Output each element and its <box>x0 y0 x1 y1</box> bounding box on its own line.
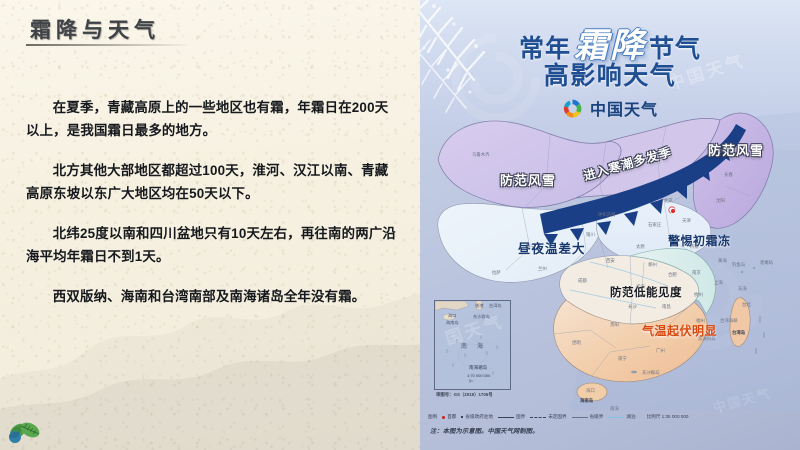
leaf-emblem-icon <box>4 404 46 444</box>
map-headline-line2: 高影响天气 <box>420 56 800 92</box>
paragraph-1: 在夏季，青藏高原上的一些地区也有霜，年霜日在200天以上，是我国霜日最多的地方。 <box>26 96 398 142</box>
inset-scale: 1:70 000 000 <box>467 373 490 378</box>
lake-swatch-icon <box>608 417 624 418</box>
city-label: 广州 <box>656 348 665 354</box>
legend-capital: 首都 <box>447 414 456 420</box>
city-label: 济南 <box>690 244 699 250</box>
sea-label: 渤海 <box>706 236 715 242</box>
map-note: 注：本图为示意图。中国天气网制图。 <box>430 426 539 435</box>
city-label: 南京 <box>692 270 701 276</box>
map-legend: 图例 首都 省级政府驻地 国界 未定国界 省级界 湖泊 比例尺 1:35 000… <box>428 414 792 420</box>
island-label: 台湾岛 <box>732 330 745 336</box>
legend-caption: 图例 <box>428 414 437 420</box>
title-underline <box>26 44 186 46</box>
sea-label: 南海 <box>610 406 619 412</box>
weather-map-image: 中国天气 国天气 中国天气 <box>420 0 800 450</box>
left-content-panel: 霜降与天气 在夏季，青藏高原上的一些地区也有霜，年霜日在200天以上，是我国霜日… <box>0 0 420 450</box>
annotation-first-frost-alert: 警惕初霜冻 <box>668 232 731 249</box>
brand-label: 中国天气 <box>590 96 658 120</box>
city-label: 呼和浩特 <box>598 212 616 218</box>
city-label: 杭州 <box>694 292 703 298</box>
legend-lake: 湖泊 <box>626 414 635 420</box>
island-label: 澎湖列岛 <box>698 336 716 342</box>
city-label: 海口 <box>586 388 595 394</box>
china-weather-logo-icon <box>562 98 583 119</box>
city-label: 贵阳 <box>610 322 619 328</box>
legend-undefined-border: 未定国界 <box>548 414 566 420</box>
legend-province-border: 省级界 <box>590 414 604 420</box>
city-label: 台北 <box>742 302 751 308</box>
legend-province-seat: 省级政府驻地 <box>465 414 493 420</box>
inset-label: 东沙群岛 <box>473 314 490 320</box>
province-seat-swatch-icon <box>461 416 463 418</box>
inset-sea-name: 南 海 <box>461 341 485 350</box>
sea-label: 台湾海峡 <box>720 318 738 324</box>
city-label: 沈阳 <box>716 198 725 204</box>
city-label: 上海 <box>714 280 723 286</box>
inset-label: 海南岛 <box>446 320 459 326</box>
capital-marker <box>671 209 675 213</box>
legend-scale: 比例尺 1:35 000 000 <box>647 414 689 420</box>
national-border-swatch-icon <box>498 417 514 418</box>
island-label: 赤尾屿 <box>760 260 773 266</box>
undefined-border-swatch-icon <box>530 417 546 418</box>
city-label: 昆明 <box>572 340 581 346</box>
city-label: 长沙 <box>628 304 637 310</box>
city-label: 哈尔滨 <box>718 148 731 154</box>
city-label: 南宁 <box>618 356 627 362</box>
city-label: 成都 <box>578 278 587 284</box>
city-label: 南昌 <box>662 304 671 310</box>
city-label: 福州 <box>696 318 705 324</box>
inset-label: 海口 <box>448 313 456 319</box>
city-label: 合肥 <box>668 272 677 278</box>
city-label: 兰州 <box>538 266 547 272</box>
province-border-swatch-icon <box>572 417 588 418</box>
sea-label: 黄海 <box>718 258 727 264</box>
city-label: 太原 <box>636 244 645 250</box>
slide-root: 霜降与天气 在夏季，青藏高原上的一些地区也有霜，年霜日在200天以上，是我国霜日… <box>0 0 800 450</box>
inset-label: 台湾岛 <box>489 303 502 309</box>
island-label: 海南岛 <box>580 398 593 404</box>
city-label: 拉萨 <box>492 270 501 276</box>
capital-swatch-icon <box>442 416 445 419</box>
island-label: 东沙群岛 <box>642 370 660 376</box>
map-approval-number: 审图号：GS（2019）1706号 <box>436 392 493 398</box>
island-label: 钓鱼岛 <box>732 262 745 268</box>
paragraph-4: 西双版纳、海南和台湾南部及南海诸岛全年没有霜。 <box>26 285 398 308</box>
city-label: 石家庄 <box>648 222 661 228</box>
annotation-low-visibility: 防范低能见度 <box>610 284 682 300</box>
body-copy: 在夏季，青藏高原上的一些地区也有霜，年霜日在200天以上，是我国霜日最多的地方。… <box>26 96 398 325</box>
paragraph-2: 北方其他大部地区都超过100天，淮河、汉江以南、青藏高原东坡以东广大地区均在50… <box>26 159 398 205</box>
city-label: 西安 <box>606 258 615 264</box>
city-label: 长春 <box>724 172 733 178</box>
city-label: 北京 <box>664 198 673 204</box>
inset-title: 南海诸岛 <box>469 365 487 371</box>
page-title: 霜降与天气 <box>30 14 160 44</box>
city-label: 银川 <box>586 232 595 238</box>
city-label: 西宁 <box>526 244 535 250</box>
annotation-snow-northeast: 防范风雪 <box>708 140 764 159</box>
city-label: 天津 <box>682 218 691 224</box>
brand-lockup: 中国天气 <box>420 96 800 120</box>
city-label: 郑州 <box>648 262 657 268</box>
city-label: 乌鲁木齐 <box>472 152 490 158</box>
sea-label: 东海 <box>738 286 747 292</box>
city-label: 武汉 <box>636 284 645 290</box>
paragraph-3: 北纬25度以南和四川盆地只有10天左右，再往南的两广沿海平均年霜日不到1天。 <box>26 222 398 268</box>
annotation-snow-northwest: 防范风雪 <box>500 170 556 189</box>
inset-label: 香港 <box>475 303 483 309</box>
south-china-sea-inset: 香港 台湾岛 海口 东沙群岛 海南岛 南 海 南海诸岛 1:70 000 000 <box>434 300 511 390</box>
legend-national-border: 国界 <box>516 414 525 420</box>
